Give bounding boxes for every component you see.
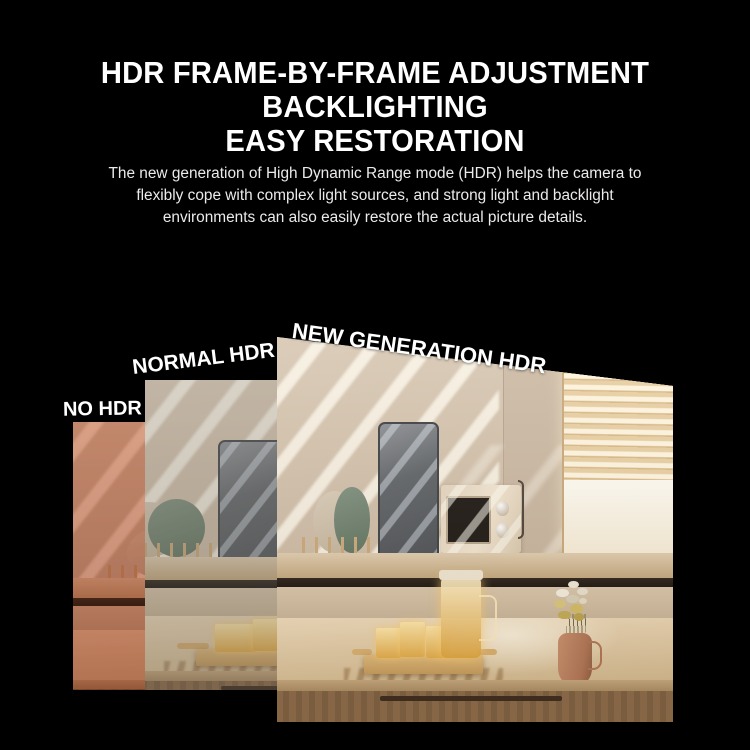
flower (568, 581, 579, 589)
drinking-glass (400, 622, 426, 657)
comparison-panel-normal-hdr (145, 380, 278, 690)
flower (566, 595, 579, 604)
description-line-2: flexibly cope with complex light sources… (28, 185, 722, 207)
drinking-glass (376, 628, 402, 659)
description-block: The new generation of High Dynamic Range… (28, 163, 722, 229)
flower (579, 598, 587, 604)
microwave (441, 485, 520, 552)
flower (570, 604, 583, 613)
flower (574, 613, 584, 621)
comparison-panel-no-hdr (73, 422, 147, 690)
promo-banner: HDR FRAME-BY-FRAME ADJUSTMENT BACKLIGHTI… (0, 0, 750, 750)
scene-normal-hdr (145, 380, 278, 690)
phone (378, 422, 439, 561)
island-drawer-pull (221, 686, 278, 690)
glass-pitcher (441, 578, 481, 659)
heading-block: HDR FRAME-BY-FRAME ADJUSTMENT BACKLIGHTI… (0, 56, 750, 158)
heading-line-2: BACKLIGHTING (23, 90, 728, 124)
vase-handle (588, 641, 602, 670)
phone-glare (220, 442, 278, 563)
window-frame (562, 360, 673, 560)
drinking-glass (253, 619, 278, 651)
pitcher-lid (439, 570, 483, 580)
heading-line-3: EASY RESTORATION (23, 124, 728, 158)
phone-glare (380, 424, 437, 559)
flower (577, 588, 588, 596)
flower-vase (558, 633, 592, 685)
description-line-1: The new generation of High Dynamic Range… (28, 163, 722, 185)
scene-no-hdr (73, 422, 147, 690)
back-counter (73, 578, 147, 598)
flower (554, 600, 565, 608)
back-counter-shadow (145, 580, 278, 589)
panel-label-no-hdr: NO HDR (63, 397, 142, 421)
island-drawer-pull (380, 696, 562, 701)
pitcher-handle (479, 595, 497, 641)
flower (558, 611, 570, 620)
island-cabinet (73, 689, 147, 690)
description-line-3: environments can also easily restore the… (28, 207, 722, 229)
back-counter (145, 557, 278, 579)
drinking-glass (215, 624, 257, 652)
scene-new-generation-hdr (277, 337, 673, 722)
kitchen-island-top (73, 630, 147, 683)
panel-label-normal-hdr: NORMAL HDR (131, 339, 276, 380)
phone (218, 440, 278, 565)
dried-flowers (550, 580, 601, 638)
island-edge (277, 680, 673, 692)
microwave-glare (441, 485, 520, 552)
comparison-panel-new-generation-hdr (277, 330, 673, 722)
heading-line-1: HDR FRAME-BY-FRAME ADJUSTMENT (23, 56, 728, 90)
